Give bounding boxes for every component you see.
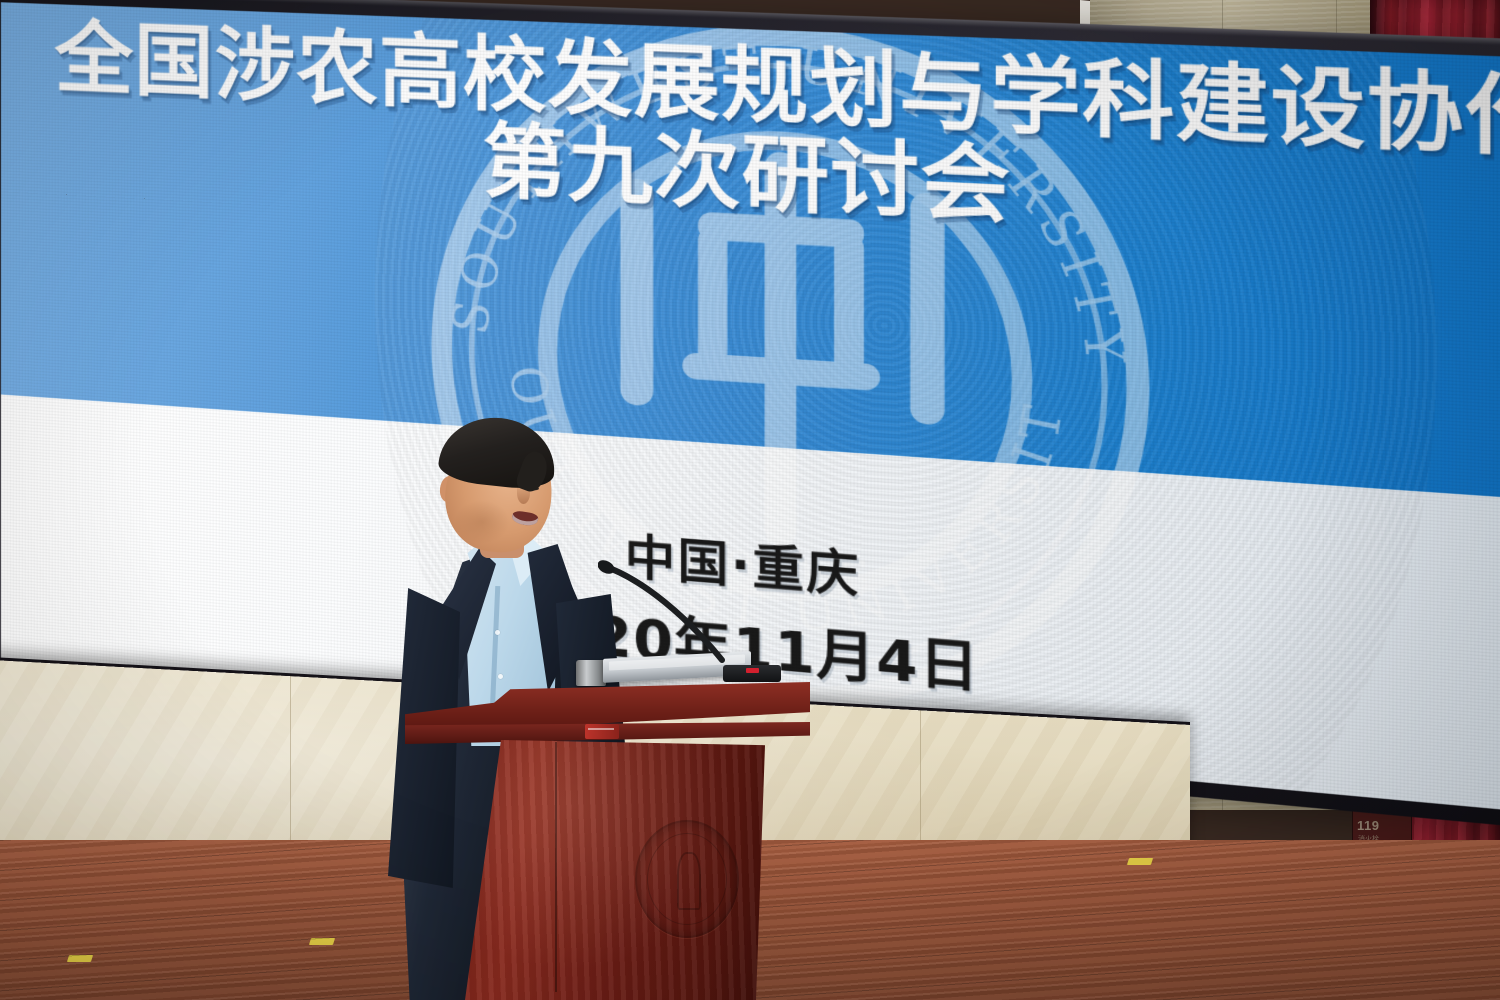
cheek-shading [454, 500, 510, 544]
conference-photo-scene: 119 消火栓 [0, 0, 1500, 1000]
headline-line-2: 第九次研讨会 [483, 117, 1012, 235]
podium-embossed-seal-icon [635, 820, 739, 938]
fire-cabinet-number: 119 [1357, 818, 1379, 833]
podium-seam [555, 742, 557, 992]
floor-tape-marker [1127, 858, 1153, 865]
floor-tape-marker [309, 938, 335, 945]
podium [405, 660, 810, 1000]
podium-logo-badge [585, 724, 619, 739]
floor-tape-marker [67, 955, 93, 962]
shirt-button [495, 630, 500, 635]
